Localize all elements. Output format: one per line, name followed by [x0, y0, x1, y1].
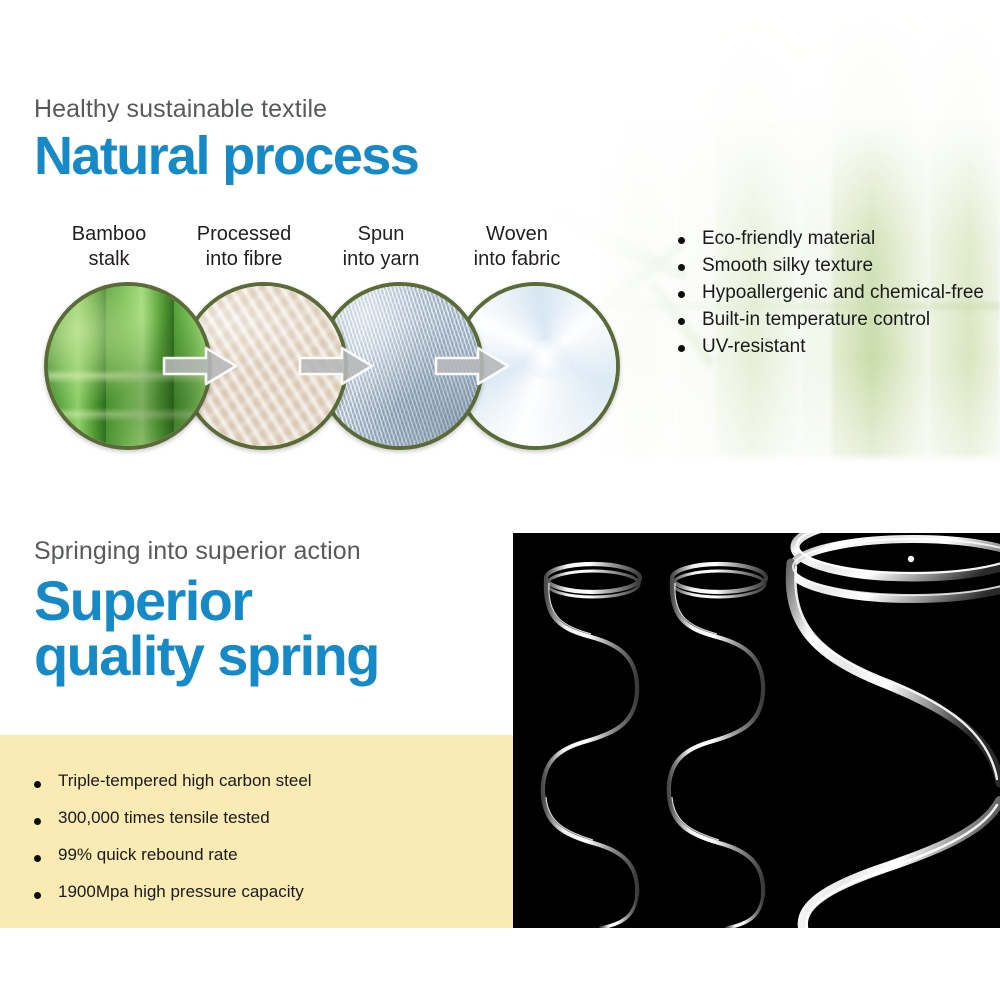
list-item: 99% quick rebound rate — [32, 845, 492, 865]
superior-spring-panel: Springing into superior action Superior … — [0, 462, 1000, 1000]
step-label-woven-into-fabric: Woven into fabric — [442, 222, 592, 272]
step-label-bamboo-stalk: Bamboo stalk — [34, 222, 184, 272]
spring-feature-list: Triple-tempered high carbon steel 300,00… — [32, 771, 492, 919]
arrow-right-icon — [162, 344, 238, 388]
step-label-line2: into fabric — [474, 248, 561, 270]
list-item: 300,000 times tensile tested — [32, 808, 492, 828]
spring-specular-highlight — [908, 556, 914, 562]
step-label-line1: Bamboo — [72, 223, 147, 245]
arrow-right-icon — [434, 344, 510, 388]
step-label-spun-into-yarn: Spun into yarn — [306, 222, 456, 272]
step-label-line2: stalk — [88, 248, 129, 270]
list-item: Triple-tempered high carbon steel — [32, 771, 492, 791]
infographic-page: Healthy sustainable textile Natural proc… — [0, 0, 1000, 1000]
list-item: 1900Mpa high pressure capacity — [32, 882, 492, 902]
natural-kicker: Healthy sustainable textile — [34, 95, 327, 124]
arrow-right-icon — [298, 344, 374, 388]
process-step-labels: Bamboo stalk Processed into fibre Spun i… — [34, 222, 614, 278]
spring-headline: Superior quality spring — [34, 574, 379, 684]
step-label-line1: Woven — [486, 223, 548, 245]
list-item: Built-in temperature control — [676, 307, 1000, 334]
step-label-line1: Spun — [358, 223, 405, 245]
natural-feature-list: Eco-friendly material Smooth silky textu… — [676, 226, 1000, 361]
step-label-line1: Processed — [197, 223, 292, 245]
step-label-line2: into fibre — [206, 248, 283, 270]
spring-feature-box: Triple-tempered high carbon steel 300,00… — [0, 735, 513, 928]
list-item: Hypoallergenic and chemical-free — [676, 280, 1000, 307]
natural-headline: Natural process — [34, 130, 418, 183]
step-label-line2: into yarn — [343, 248, 420, 270]
chrome-coil-springs-photo — [513, 533, 1000, 928]
step-label-processed-into-fibre: Processed into fibre — [169, 222, 319, 272]
process-step-circles — [44, 282, 624, 454]
list-item: UV-resistant — [676, 334, 1000, 361]
spring-headline-line1: Superior — [34, 569, 251, 632]
list-item: Smooth silky texture — [676, 253, 1000, 280]
natural-process-panel: Healthy sustainable textile Natural proc… — [0, 0, 1000, 462]
spring-kicker: Springing into superior action — [34, 537, 361, 566]
list-item: Eco-friendly material — [676, 226, 1000, 253]
spring-headline-line2: quality spring — [34, 629, 379, 684]
